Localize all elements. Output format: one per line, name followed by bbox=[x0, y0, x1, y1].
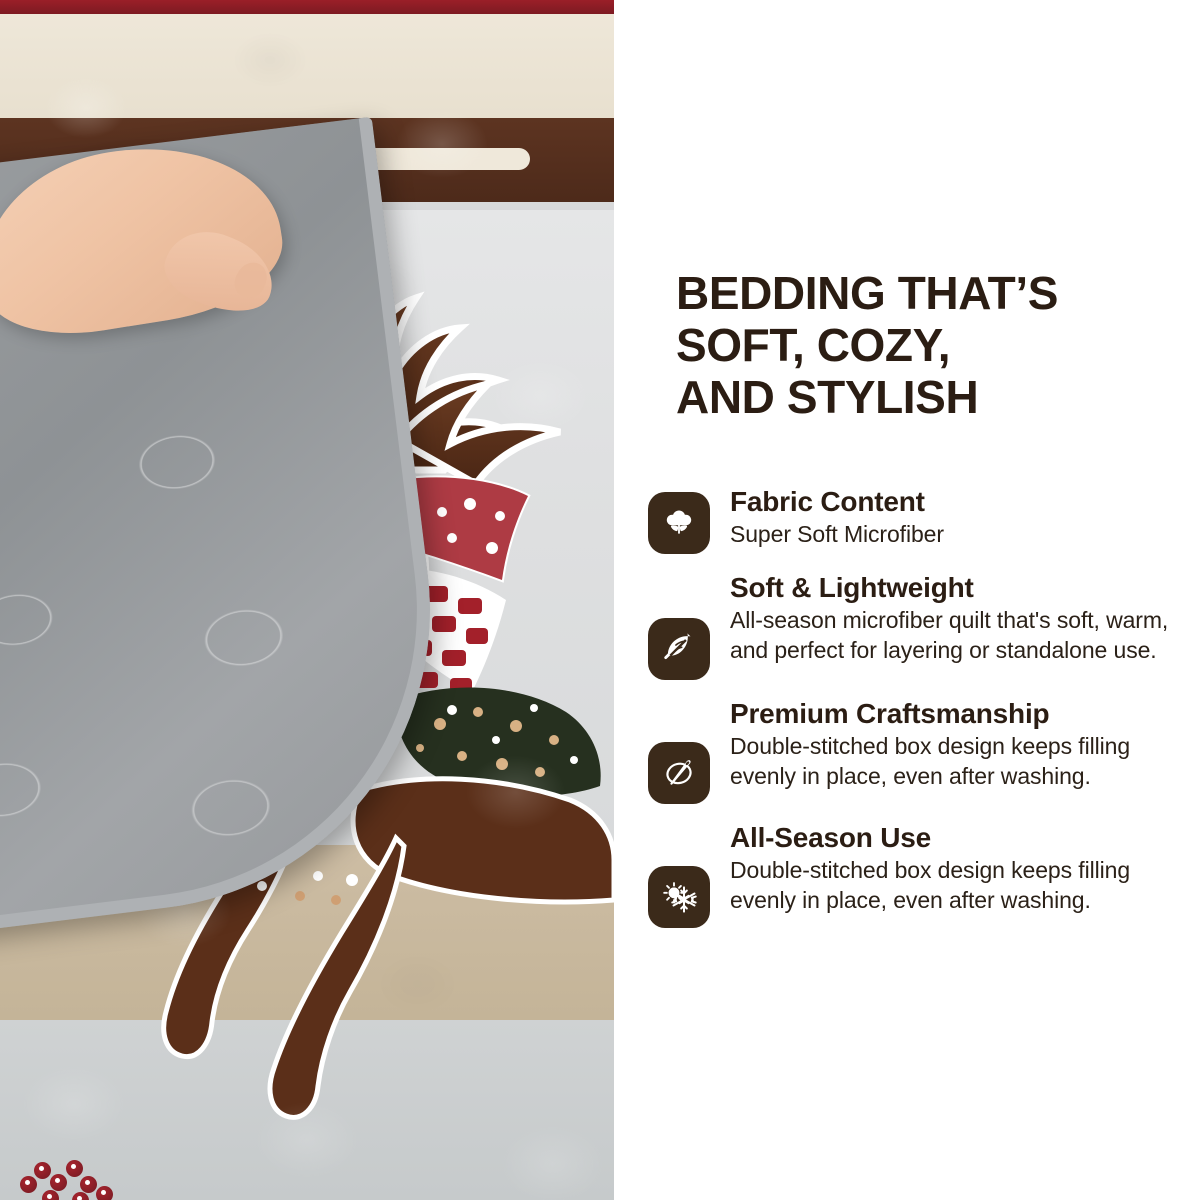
feature-description: All-season microfiber quilt that's soft,… bbox=[730, 606, 1200, 666]
feature-title: Premium Craftsmanship bbox=[730, 698, 1200, 730]
feature-text: Fabric Content Super Soft Microfiber bbox=[730, 486, 944, 550]
berry-cluster bbox=[20, 1152, 130, 1200]
feature-description: Super Soft Microfiber bbox=[730, 520, 944, 550]
feature-description: Double-stitched box design keeps filling… bbox=[730, 732, 1200, 792]
feature-list: Fabric Content Super Soft Microfiber Sof… bbox=[648, 486, 1200, 928]
cotton-boll-icon bbox=[648, 492, 710, 554]
feature-title: Fabric Content bbox=[730, 486, 944, 518]
feature-item-soft-lightweight: Soft & Lightweight All-season microfiber… bbox=[648, 572, 1200, 680]
headline: BEDDING THAT’S SOFT, COZY, AND STYLISH bbox=[676, 268, 1176, 424]
headline-line-3: AND STYLISH bbox=[676, 371, 978, 423]
infographic-canvas: BEDDING THAT’S SOFT, COZY, AND STYLISH F… bbox=[0, 0, 1200, 1200]
feather-icon bbox=[648, 618, 710, 680]
info-panel: BEDDING THAT’S SOFT, COZY, AND STYLISH F… bbox=[614, 0, 1200, 1200]
feature-title: All-Season Use bbox=[730, 822, 1200, 854]
feature-text: Premium Craftsmanship Double-stitched bo… bbox=[730, 698, 1200, 792]
feature-title: Soft & Lightweight bbox=[730, 572, 1200, 604]
sun-snowflake-icon bbox=[648, 866, 710, 928]
quilt-photo-composition bbox=[0, 0, 614, 1200]
feature-item-fabric-content: Fabric Content Super Soft Microfiber bbox=[648, 486, 1200, 554]
product-photo bbox=[0, 0, 614, 1200]
feature-description: Double-stitched box design keeps filling… bbox=[730, 856, 1200, 916]
feature-text: All-Season Use Double-stitched box desig… bbox=[730, 822, 1200, 916]
feature-item-all-season-use: All-Season Use Double-stitched box desig… bbox=[648, 822, 1200, 928]
headline-line-1: BEDDING THAT’S bbox=[676, 267, 1058, 319]
headline-line-2: SOFT, COZY, bbox=[676, 319, 950, 371]
feature-text: Soft & Lightweight All-season microfiber… bbox=[730, 572, 1200, 666]
needle-thread-icon bbox=[648, 742, 710, 804]
feature-item-premium-craftsmanship: Premium Craftsmanship Double-stitched bo… bbox=[648, 698, 1200, 804]
